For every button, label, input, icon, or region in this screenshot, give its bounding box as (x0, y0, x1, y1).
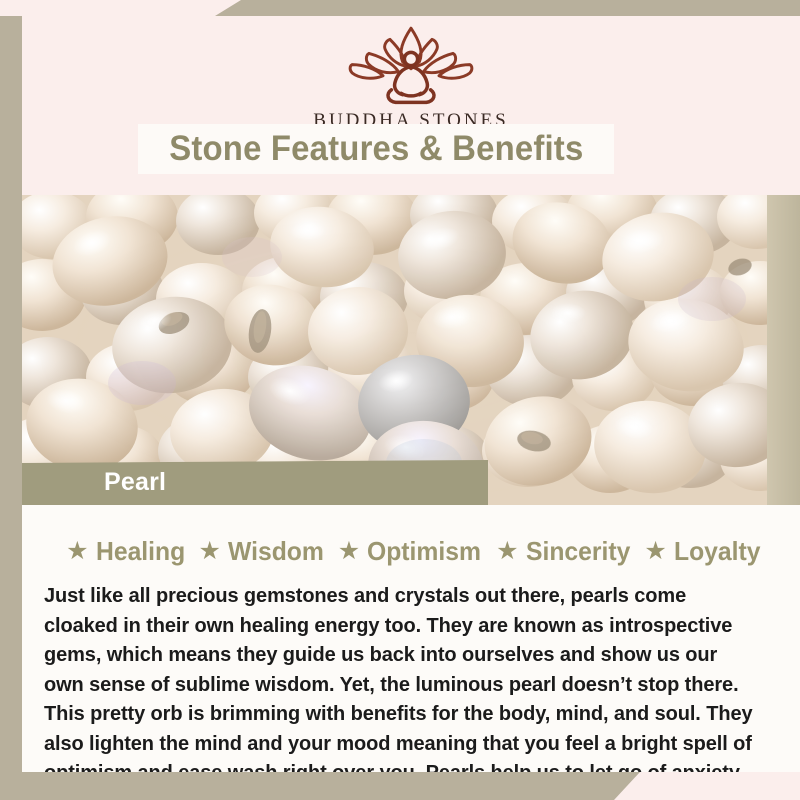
benefits-list: ★ Healing ★ Wisdom ★ Optimism ★ Sincerit… (22, 505, 800, 575)
star-icon: ★ (496, 539, 518, 564)
benefit-item-sincerity: ★ Sincerity (487, 536, 635, 567)
page-title: Stone Features & Benefits (169, 129, 583, 169)
benefit-item-healing: ★ Healing (57, 536, 189, 567)
star-icon: ★ (644, 539, 666, 564)
star-icon: ★ (66, 539, 88, 564)
benefit-label: Optimism (367, 536, 481, 567)
benefit-label: Healing (96, 536, 185, 567)
star-icon: ★ (338, 539, 360, 564)
benefit-item-loyalty: ★ Loyalty (635, 536, 764, 567)
stone-name-band: Pearl (22, 460, 488, 505)
content-section: ★ Healing ★ Wisdom ★ Optimism ★ Sincerit… (22, 505, 800, 772)
decorative-corner-bottom (0, 772, 640, 800)
benefit-item-optimism: ★ Optimism (329, 536, 487, 567)
benefit-label: Sincerity (526, 536, 630, 567)
stone-description: Just like all precious gemstones and cry… (44, 581, 760, 772)
decorative-left-rail (0, 16, 22, 782)
pearl-pile-illustration (22, 195, 767, 505)
section-title-panel: Stone Features & Benefits (138, 124, 614, 174)
brand-header: BUDDHA STONES (22, 16, 800, 138)
benefit-label: Wisdom (228, 536, 324, 567)
hero-right-edge-wash (767, 195, 800, 505)
lotus-meditation-figure-icon (341, 24, 481, 108)
infographic-page: BUDDHA STONES (0, 0, 800, 800)
star-icon: ★ (198, 539, 220, 564)
stone-name: Pearl (104, 468, 166, 497)
benefit-label: Loyalty (674, 536, 760, 567)
benefit-item-wisdom: ★ Wisdom (189, 536, 328, 567)
hero-image-pearls (22, 195, 767, 505)
decorative-corner-top-right (215, 0, 800, 16)
